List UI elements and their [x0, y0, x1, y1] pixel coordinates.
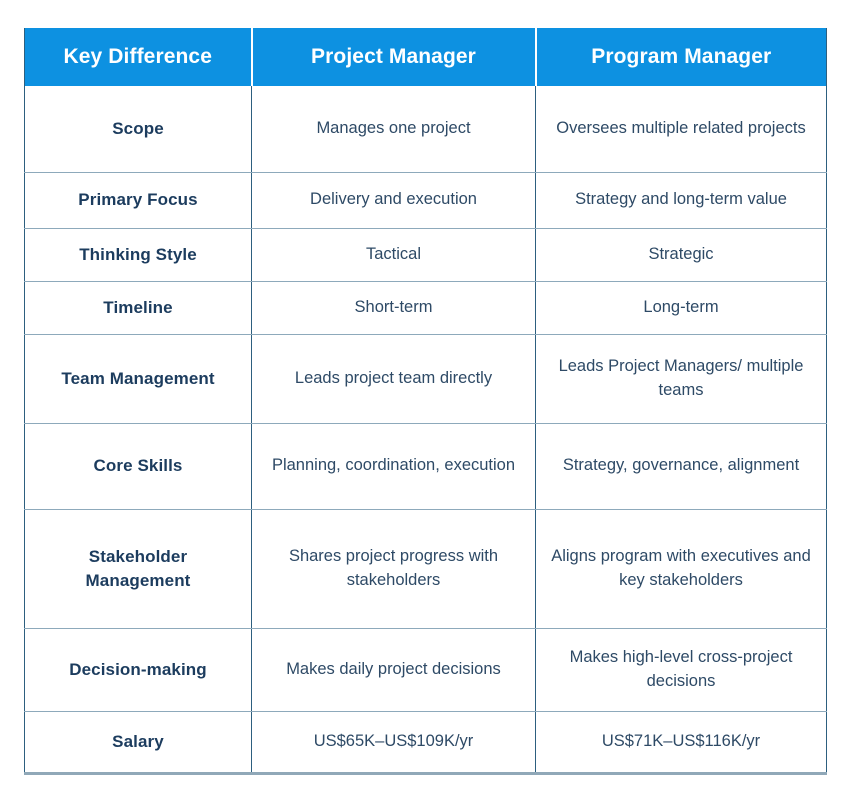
- cell-project-manager: Shares project progress with stakeholder…: [252, 509, 536, 628]
- table-row: Thinking Style Tactical Strategic: [25, 228, 827, 281]
- table-row: Scope Manages one project Oversees multi…: [25, 86, 827, 172]
- column-header-program-manager: Program Manager: [536, 28, 827, 86]
- comparison-table-container: Key Difference Project Manager Program M…: [24, 28, 826, 775]
- cell-program-manager: Leads Project Managers/ multiple teams: [536, 334, 827, 423]
- cell-project-manager: Tactical: [252, 228, 536, 281]
- cell-program-manager: Strategic: [536, 228, 827, 281]
- row-key-label: Core Skills: [25, 423, 252, 509]
- cell-program-manager: Long-term: [536, 281, 827, 334]
- table-row: Timeline Short-term Long-term: [25, 281, 827, 334]
- table-row: Salary US$65K–US$109K/yr US$71K–US$116K/…: [25, 711, 827, 773]
- row-key-label: Timeline: [25, 281, 252, 334]
- row-key-label: Scope: [25, 86, 252, 172]
- cell-program-manager: Strategy and long-term value: [536, 172, 827, 228]
- table-row: Core Skills Planning, coordination, exec…: [25, 423, 827, 509]
- table-body: Scope Manages one project Oversees multi…: [25, 86, 827, 773]
- table-row: Decision-making Makes daily project deci…: [25, 628, 827, 711]
- cell-project-manager: Short-term: [252, 281, 536, 334]
- cell-program-manager: Oversees multiple related projects: [536, 86, 827, 172]
- table-row: Primary Focus Delivery and execution Str…: [25, 172, 827, 228]
- row-key-label: Thinking Style: [25, 228, 252, 281]
- cell-project-manager: Planning, coordination, execution: [252, 423, 536, 509]
- row-key-label: Team Management: [25, 334, 252, 423]
- project-vs-program-manager-table: Key Difference Project Manager Program M…: [24, 28, 827, 775]
- table-header-row: Key Difference Project Manager Program M…: [25, 28, 827, 86]
- cell-program-manager: Strategy, governance, alignment: [536, 423, 827, 509]
- column-header-project-manager: Project Manager: [252, 28, 536, 86]
- row-key-label: Salary: [25, 711, 252, 773]
- table-header: Key Difference Project Manager Program M…: [25, 28, 827, 86]
- table-row: Stakeholder Management Shares project pr…: [25, 509, 827, 628]
- row-key-label: Stakeholder Management: [25, 509, 252, 628]
- cell-project-manager: Makes daily project decisions: [252, 628, 536, 711]
- cell-project-manager: Leads project team directly: [252, 334, 536, 423]
- cell-project-manager: Delivery and execution: [252, 172, 536, 228]
- row-key-label: Decision-making: [25, 628, 252, 711]
- row-key-label: Primary Focus: [25, 172, 252, 228]
- cell-project-manager: US$65K–US$109K/yr: [252, 711, 536, 773]
- cell-program-manager: Makes high-level cross-project decisions: [536, 628, 827, 711]
- cell-program-manager: Aligns program with executives and key s…: [536, 509, 827, 628]
- cell-program-manager: US$71K–US$116K/yr: [536, 711, 827, 773]
- table-row: Team Management Leads project team direc…: [25, 334, 827, 423]
- column-header-key-difference: Key Difference: [25, 28, 252, 86]
- cell-project-manager: Manages one project: [252, 86, 536, 172]
